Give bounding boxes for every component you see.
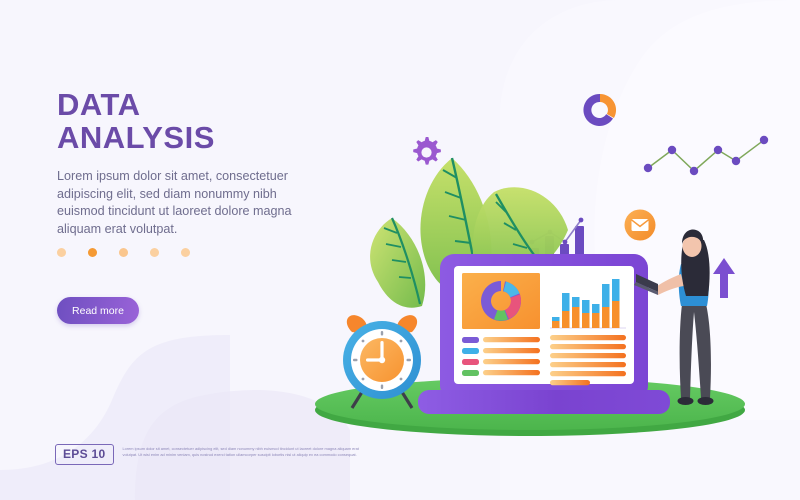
laptop-device xyxy=(418,254,670,414)
title-line-1: DATA xyxy=(57,87,141,122)
hero-copy: DATA ANALYSIS Lorem ipsum dolor sit amet… xyxy=(57,88,307,238)
dot-indicators xyxy=(57,248,190,257)
mail-icon xyxy=(625,210,656,241)
dot-1 xyxy=(57,248,66,257)
up-arrow-icon xyxy=(713,258,735,298)
donut-chart-icon xyxy=(583,94,616,126)
gear-icon xyxy=(413,137,441,165)
dot-2 xyxy=(88,248,97,257)
donut-chart-panel xyxy=(462,273,540,329)
clock-center-pin xyxy=(379,357,385,363)
footer: EPS 10 Lorem ipsum dolor sit amet, conse… xyxy=(55,444,363,465)
footer-fine-print: Lorem ipsum dolor sit amet, consectetuer… xyxy=(123,444,363,457)
person-shoe-right xyxy=(698,397,714,405)
hero-paragraph: Lorem ipsum dolor sit amet, consectetuer… xyxy=(57,168,307,238)
dot-3 xyxy=(119,248,128,257)
leaf-left xyxy=(370,218,425,308)
main-illustration xyxy=(300,70,800,440)
line-chart-icon xyxy=(644,136,768,175)
eps-badge: EPS 10 xyxy=(55,444,114,465)
person-shoe-left xyxy=(678,397,694,405)
title-line-2: ANALYSIS xyxy=(57,121,307,154)
laptop-base xyxy=(418,390,670,414)
dot-4 xyxy=(150,248,159,257)
landing-page-illustration: DATA ANALYSIS Lorem ipsum dolor sit amet… xyxy=(0,0,800,500)
dot-5 xyxy=(181,248,190,257)
read-more-button[interactable]: Read more xyxy=(57,297,139,324)
bg-curve-left xyxy=(0,335,230,500)
person-pants xyxy=(680,304,711,398)
page-title: DATA ANALYSIS xyxy=(57,88,307,154)
